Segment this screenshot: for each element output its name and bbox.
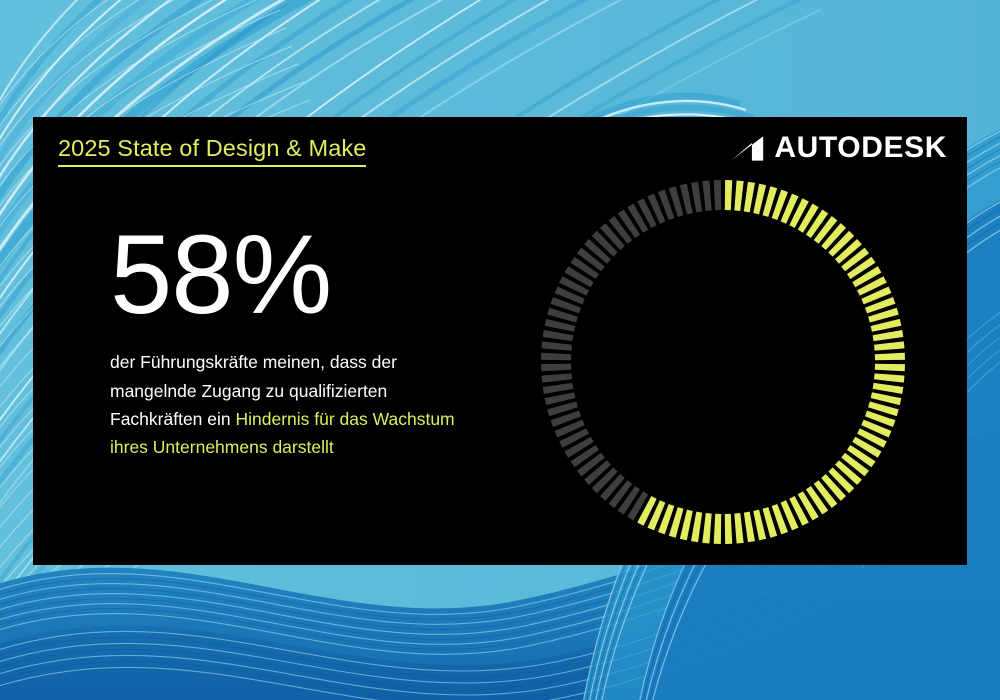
- donut-tick: [542, 341, 572, 350]
- donut-tick: [702, 181, 711, 211]
- screenshot-canvas: 2025 State of Design & Make AUTODESK 58%…: [0, 0, 1000, 700]
- donut-tick: [873, 383, 904, 394]
- segmented-donut-chart: [538, 177, 908, 547]
- donut-tick: [702, 513, 711, 543]
- donut-tick: [734, 181, 743, 211]
- report-title: 2025 State of Design & Make: [58, 135, 366, 167]
- donut-tick: [714, 180, 722, 210]
- donut-tick: [725, 180, 733, 210]
- donut-tick-group: [541, 180, 905, 544]
- donut-tick: [744, 182, 755, 213]
- donut-tick: [744, 512, 755, 543]
- autodesk-a-mark-icon: [730, 135, 764, 162]
- donut-tick: [691, 182, 702, 213]
- donut-tick: [714, 514, 722, 544]
- donut-tick: [875, 364, 905, 372]
- autodesk-logo: AUTODESK: [730, 133, 947, 163]
- donut-tick: [541, 364, 571, 372]
- donut-chart-svg: [538, 177, 908, 547]
- stat-percentage-value: 58%: [110, 222, 510, 328]
- donut-tick: [873, 330, 904, 341]
- stat-description: der Führungskräfte meinen, dass der mang…: [110, 348, 466, 461]
- donut-tick: [541, 353, 571, 361]
- donut-tick: [874, 373, 904, 382]
- infographic-card: 2025 State of Design & Make AUTODESK 58%…: [33, 117, 967, 565]
- donut-tick: [543, 383, 574, 394]
- donut-tick: [734, 513, 743, 543]
- autodesk-wordmark: AUTODESK: [774, 133, 947, 163]
- donut-tick: [542, 373, 572, 382]
- donut-tick: [875, 353, 905, 361]
- donut-tick: [874, 341, 904, 350]
- donut-tick: [691, 512, 702, 543]
- stat-block: 58% der Führungskräfte meinen, dass der …: [110, 222, 510, 462]
- donut-tick: [725, 514, 733, 544]
- donut-tick: [543, 330, 574, 341]
